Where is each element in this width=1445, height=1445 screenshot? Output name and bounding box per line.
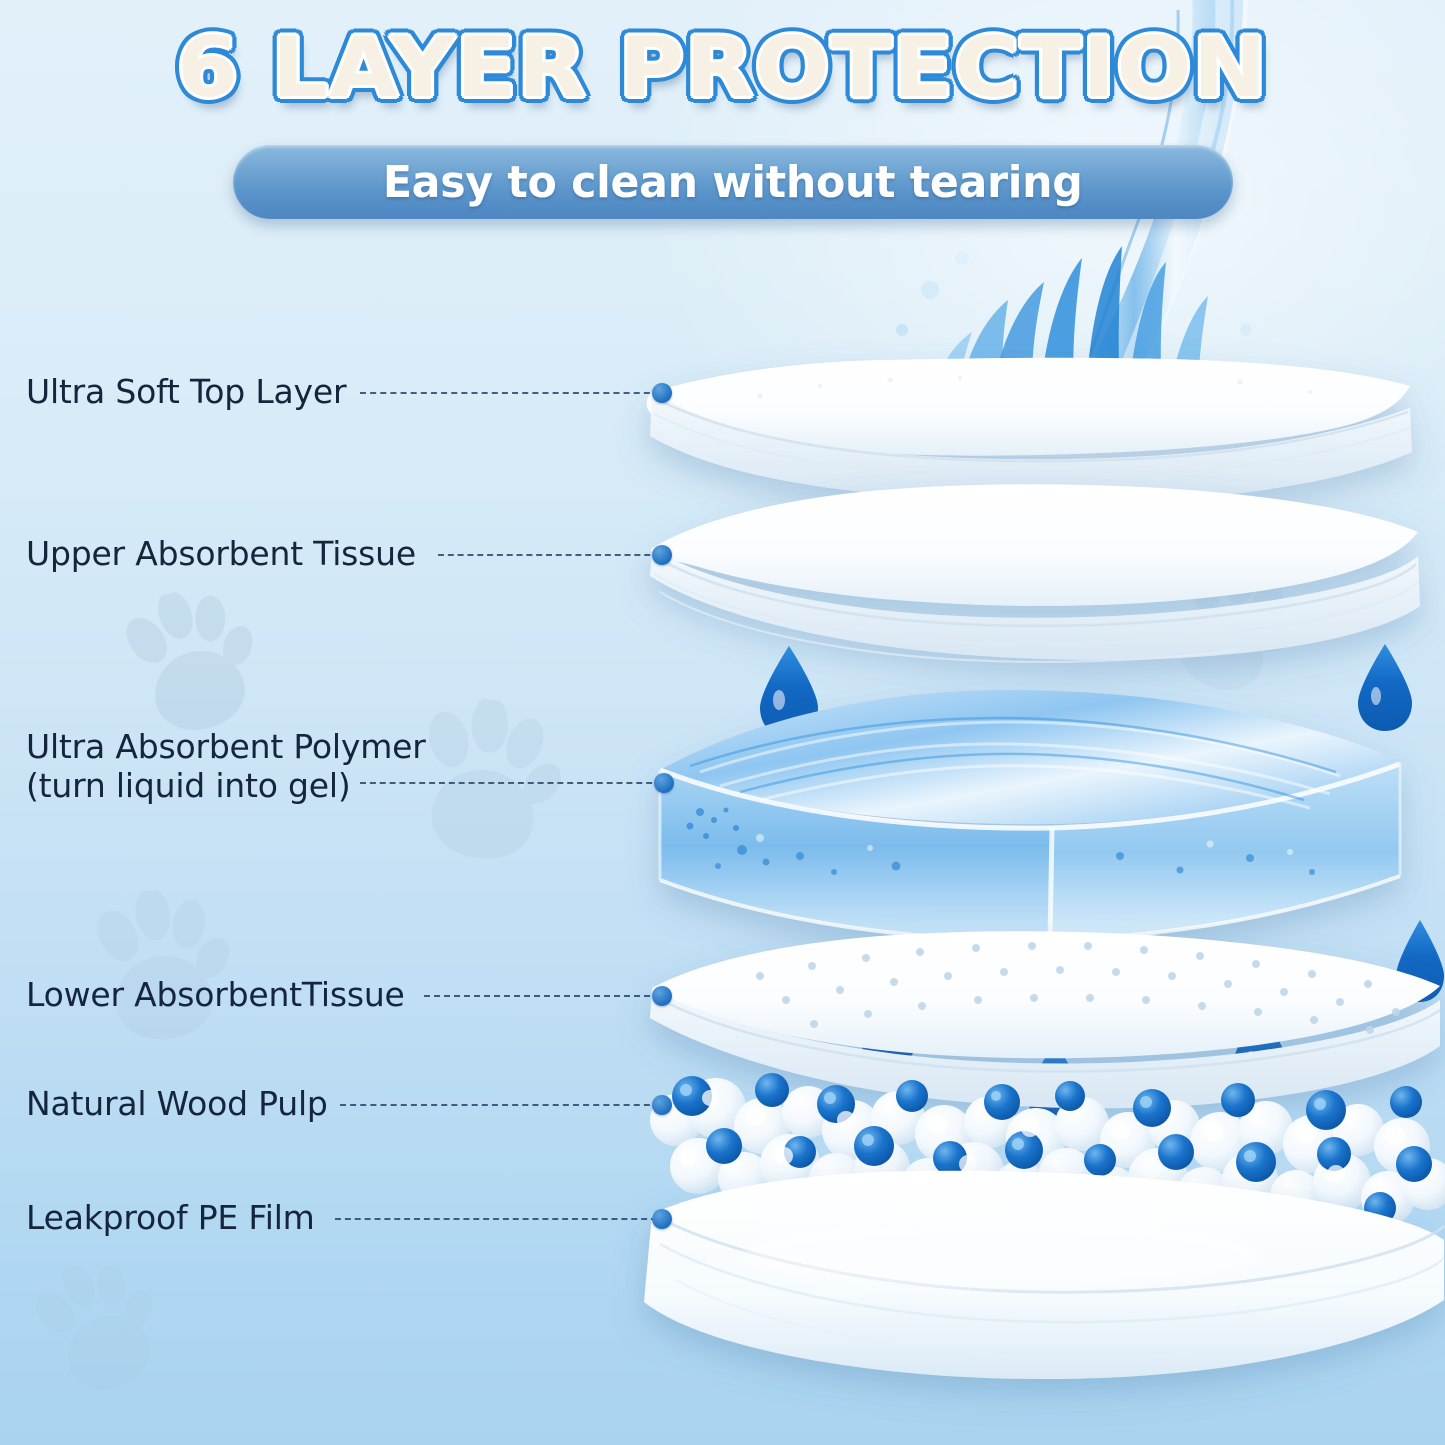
- layer-label-5: Natural Wood Pulp: [26, 1084, 328, 1123]
- layer-label-line1: Ultra Soft Top Layer: [26, 372, 346, 411]
- leader-dot-1: [652, 383, 672, 403]
- layer-label-2: Upper Absorbent Tissue: [26, 534, 416, 573]
- leader-dot-6: [652, 1209, 672, 1229]
- layer-label-line1: Upper Absorbent Tissue: [26, 534, 416, 573]
- layer-label-line1: Natural Wood Pulp: [26, 1084, 328, 1123]
- layer-label-3: Ultra Absorbent Polymer(turn liquid into…: [26, 727, 426, 805]
- layer-label-line1: Leakproof PE Film: [26, 1198, 315, 1237]
- leader-line-2: [438, 554, 660, 556]
- leader-line-4: [424, 995, 660, 997]
- layer-label-line1: Lower AbsorbentTissue: [26, 975, 405, 1014]
- layer-label-4: Lower AbsorbentTissue: [26, 975, 405, 1014]
- infographic-canvas: 6 LAYER PROTECTION Easy to clean without…: [0, 0, 1445, 1445]
- leader-dot-3: [654, 773, 674, 793]
- page-title: 6 LAYER PROTECTION: [0, 26, 1445, 109]
- layer-label-1: Ultra Soft Top Layer: [26, 372, 346, 411]
- layer-label-line2: (turn liquid into gel): [26, 766, 426, 805]
- leader-dot-4: [652, 986, 672, 1006]
- leader-line-6: [335, 1218, 657, 1220]
- leader-dot-2: [652, 545, 672, 565]
- layer-ultra-soft-top: [647, 358, 1412, 502]
- layer-ultra-absorbent-polymer: [660, 690, 1400, 940]
- layer-upper-absorbent-tissue: [650, 484, 1420, 662]
- layer-label-6: Leakproof PE Film: [26, 1198, 315, 1237]
- leader-line-5: [340, 1104, 660, 1106]
- leader-line-1: [360, 392, 660, 394]
- subtitle-banner: Easy to clean without tearing: [233, 145, 1233, 219]
- layer-label-line1: Ultra Absorbent Polymer: [26, 727, 426, 766]
- subtitle-text: Easy to clean without tearing: [383, 157, 1083, 208]
- leader-dot-5: [652, 1095, 672, 1115]
